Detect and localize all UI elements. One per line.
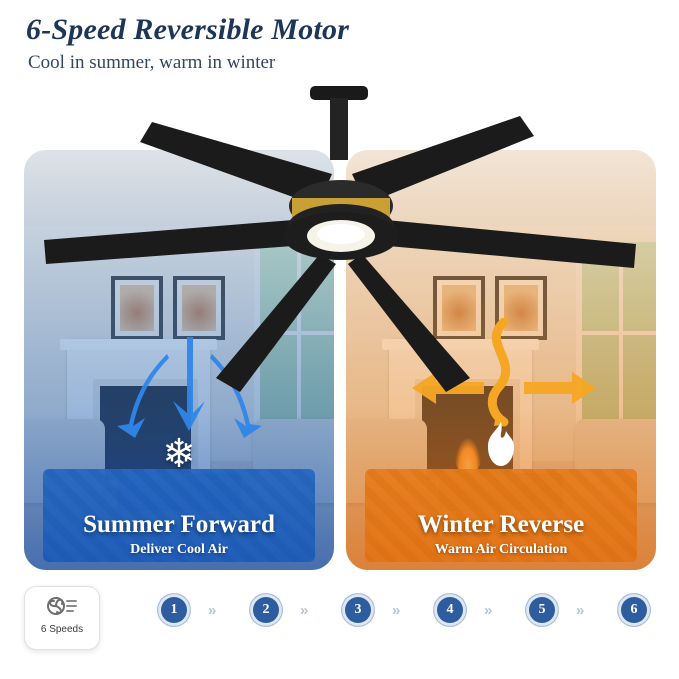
summer-caption: Summer Forward Deliver Cool Air xyxy=(24,510,334,560)
speed-chip-label: 6 Speeds xyxy=(25,624,99,635)
speed-step-3[interactable]: 3 xyxy=(342,594,374,626)
step-separator-icon: » xyxy=(392,602,398,619)
snowflake-icon: ❄ xyxy=(162,434,196,474)
speed-step-6[interactable]: 6 xyxy=(618,594,650,626)
speed-step-2[interactable]: 2 xyxy=(250,594,282,626)
speed-step-5[interactable]: 5 xyxy=(526,594,558,626)
page-subtitle: Cool in summer, warm in winter xyxy=(26,50,666,76)
step-separator-icon: » xyxy=(300,602,306,619)
flame-glyph xyxy=(482,421,520,467)
airflow-arrow-right xyxy=(520,368,600,408)
speed-step-1[interactable]: 1 xyxy=(158,594,190,626)
flame-icon xyxy=(482,421,520,474)
header: 6-Speed Reversible Motor Cool in summer,… xyxy=(26,10,666,76)
speed-step-4[interactable]: 4 xyxy=(434,594,466,626)
panel-winter: Winter Reverse Warm Air Circulation xyxy=(346,150,656,570)
airflow-arrow-swirl xyxy=(470,318,530,428)
winter-subheading: Warm Air Circulation xyxy=(346,540,656,560)
summer-subheading: Deliver Cool Air xyxy=(24,540,334,560)
comparison-panels: ❄ Summer Forward Deliver Cool Air xyxy=(24,150,656,570)
speed-chip[interactable]: 6 Speeds xyxy=(24,586,100,650)
airflow-arrow-right xyxy=(198,352,268,442)
panel-summer: ❄ Summer Forward Deliver Cool Air xyxy=(24,150,334,570)
step-separator-icon: » xyxy=(576,602,582,619)
speed-steps: 1 » 2 » 3 » 4 » 5 » 6 xyxy=(132,594,656,640)
step-separator-icon: » xyxy=(484,602,490,619)
fan-speed-icon xyxy=(25,594,99,623)
summer-heading: Summer Forward xyxy=(24,510,334,540)
speed-control-bar: 6 Speeds 1 » 2 » 3 » 4 » 5 » 6 xyxy=(24,586,656,656)
step-separator-icon: » xyxy=(208,602,214,619)
winter-caption: Winter Reverse Warm Air Circulation xyxy=(346,510,656,560)
winter-heading: Winter Reverse xyxy=(346,510,656,540)
page-title: 6-Speed Reversible Motor xyxy=(26,10,666,50)
